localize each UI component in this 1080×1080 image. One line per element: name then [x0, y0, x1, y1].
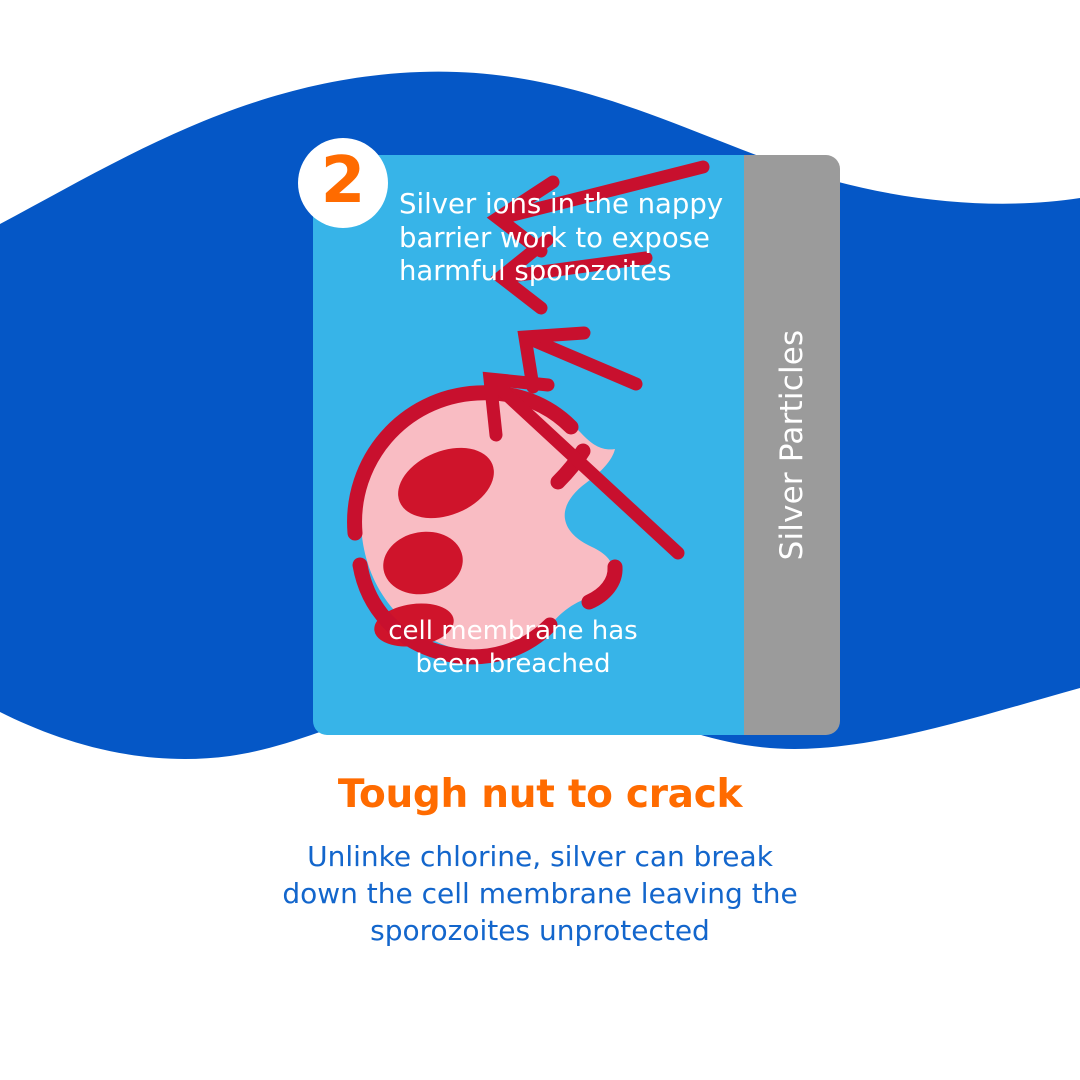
arrow-3-shaft [528, 338, 636, 384]
card-caption: cell membrane has been breached [313, 615, 713, 682]
step-card: Silver ions in the nappy barrier work to… [313, 155, 840, 735]
footer-body-line-2: down the cell membrane leaving the [230, 875, 850, 912]
step-number-badge: 2 [298, 138, 388, 228]
card-main-panel: Silver ions in the nappy barrier work to… [313, 155, 744, 735]
card-headline: Silver ions in the nappy barrier work to… [399, 188, 739, 289]
footer-body-line-1: Unlinke chlorine, silver can break [230, 838, 850, 875]
infographic-canvas: Silver ions in the nappy barrier work to… [0, 0, 1080, 1080]
silver-particles-label: Silver Particles [774, 330, 810, 561]
silver-particles-panel: Silver Particles [744, 155, 840, 735]
step-number: 2 [321, 149, 366, 213]
card-caption-line-1: cell membrane has [313, 615, 713, 648]
footer-body-line-3: sporozoites unprotected [230, 912, 850, 949]
footer-title: Tough nut to crack [0, 772, 1080, 817]
footer-body: Unlinke chlorine, silver can break down … [230, 838, 850, 950]
card-caption-line-2: been breached [313, 648, 713, 681]
